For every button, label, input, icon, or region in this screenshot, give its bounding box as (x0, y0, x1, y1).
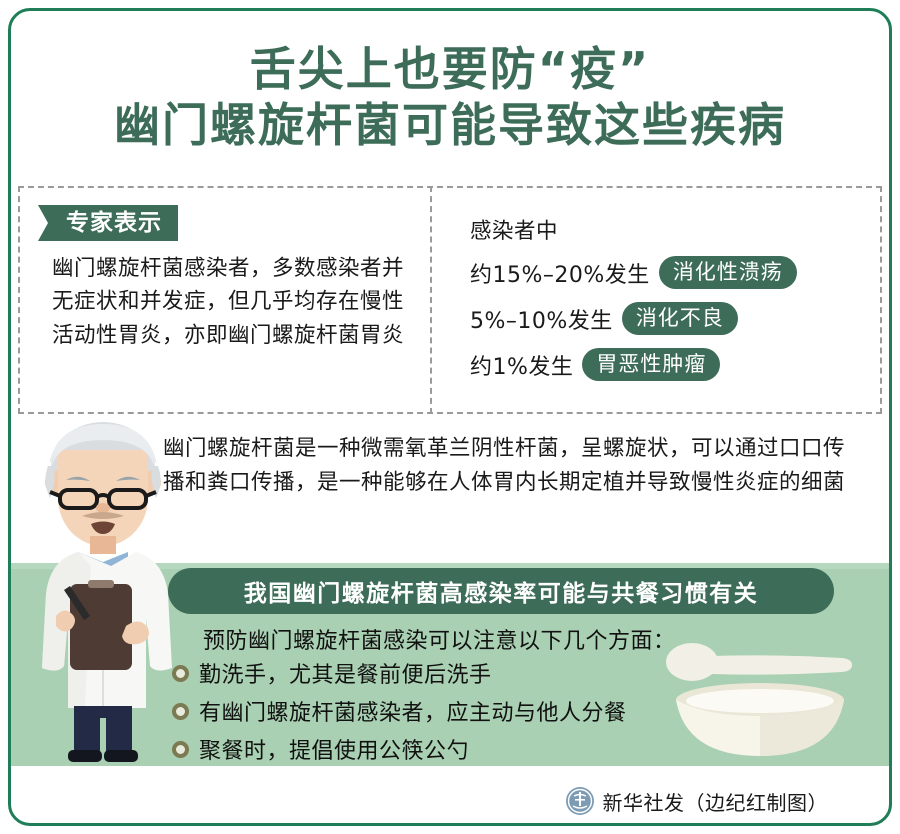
disease-pill: 消化不良 (622, 302, 738, 335)
list-item: 聚餐时，提倡使用公筷公勺 (172, 732, 627, 766)
bowl-and-spoon-illustration (650, 640, 870, 766)
list-item: 勤洗手，尤其是餐前便后洗手 (172, 656, 627, 690)
info-box-divider (430, 186, 432, 414)
prevention-heading: 预防幽门螺旋杆菌感染可以注意以下几个方面： (203, 623, 676, 655)
footer-credit: 新华社发（边纪红制图） (603, 787, 829, 816)
stat-rate: 5%–10%发生 (470, 303, 613, 335)
disease-pill: 胃恶性肿瘤 (582, 348, 720, 381)
prevention-item-text: 有幽门螺旋杆菌感染者，应主动与他人分餐 (199, 695, 627, 727)
poster-title: 舌尖上也要防“疫” 幽门螺旋杆菌可能导致这些疾病 (0, 42, 900, 153)
stat-row: 5%–10%发生 消化不良 (470, 302, 738, 335)
bullet-icon (172, 703, 189, 720)
stat-rate: 约1%发生 (470, 349, 573, 381)
prevention-list: 勤洗手，尤其是餐前便后洗手 有幽门螺旋杆菌感染者，应主动与他人分餐 聚餐时，提倡… (172, 656, 627, 770)
footer: 新华社发（边纪红制图） (0, 786, 900, 816)
infographic-poster: 舌尖上也要防“疫” 幽门螺旋杆菌可能导致这些疾病 专家表示 幽门螺旋杆菌感染者，… (0, 0, 900, 834)
disease-pill: 消化性溃疡 (659, 256, 797, 289)
highlight-banner: 我国幽门螺旋杆菌高感染率可能与共餐习惯有关 (168, 568, 834, 614)
bullet-icon (172, 665, 189, 682)
prevention-item-text: 聚餐时，提倡使用公筷公勺 (199, 733, 469, 765)
title-line-2: 幽门螺旋杆菌可能导致这些疾病 (0, 98, 900, 152)
bullet-icon (172, 741, 189, 758)
title-line-1: 舌尖上也要防“疫” (0, 42, 900, 96)
stat-rate: 约15%–20%发生 (470, 257, 650, 289)
list-item: 有幽门螺旋杆菌感染者，应主动与他人分餐 (172, 694, 627, 728)
prevention-item-text: 勤洗手，尤其是餐前便后洗手 (199, 657, 492, 689)
bacteria-description-text: 幽门螺旋杆菌是一种微需氧革兰阴性杆菌，呈螺旋状，可以通过口口传播和粪口传播，是一… (163, 432, 863, 500)
expert-ribbon-label: 专家表示 (38, 205, 178, 241)
stat-row: 约15%–20%发生 消化性溃疡 (470, 256, 797, 289)
stat-row: 约1%发生 胃恶性肿瘤 (470, 348, 720, 381)
expert-statement-text: 幽门螺旋杆菌感染者，多数感染者并无症状和并发症，但几乎均存在慢性活动性胃炎，亦即… (52, 252, 420, 352)
infected-heading: 感染者中 (470, 214, 558, 245)
xinhua-seal-icon (565, 786, 595, 816)
